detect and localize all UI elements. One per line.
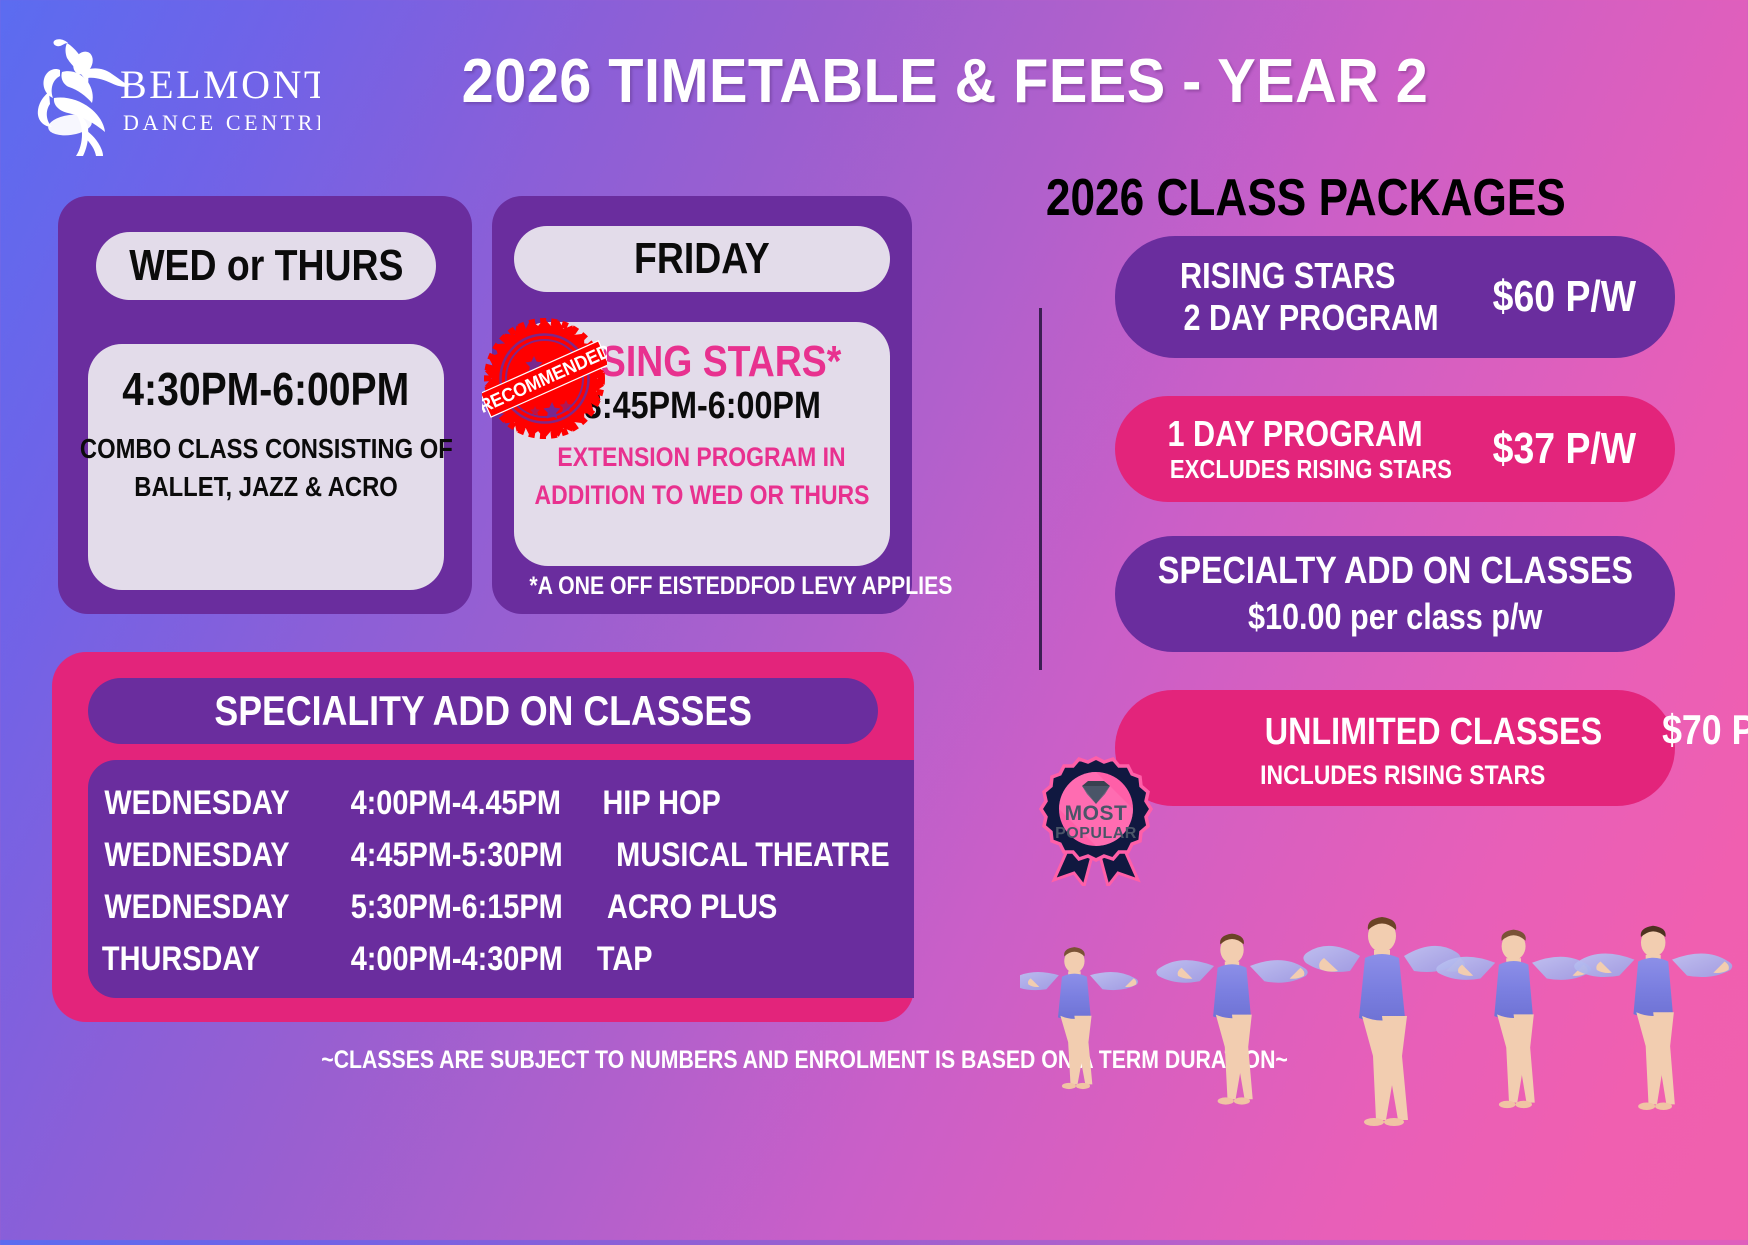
column-divider [1039, 308, 1042, 670]
wed-thurs-day-label: WED or THURS [129, 241, 403, 291]
speciality-row-class: TAP [597, 940, 653, 979]
friday-day-label: FRIDAY [634, 234, 770, 284]
wed-thurs-detail-box: 4:30PM-6:00PM COMBO CLASS CONSISTING OF … [88, 344, 444, 590]
speciality-row-day: THURSDAY [102, 940, 260, 979]
speciality-row-class: MUSICAL THEATRE [616, 836, 889, 875]
speciality-row-day: WEDNESDAY [104, 888, 289, 927]
speciality-row-time: 5:30PM-6:15PM [351, 888, 563, 927]
wed-thurs-desc-line2: BALLET, JAZZ & ACRO [134, 468, 398, 507]
rising-stars-note-line1: EXTENSION PROGRAM IN [558, 438, 846, 476]
package-label-line2: EXCLUDES RISING STARS [1170, 454, 1452, 485]
dancer-figure [1156, 934, 1307, 1105]
rising-stars-note-line2: ADDITION TO WED OR THURS [535, 476, 870, 514]
speciality-heading: SPECIALITY ADD ON CLASSES [214, 687, 752, 735]
dancer-figure [1020, 947, 1138, 1089]
package-label-line1: 1 DAY PROGRAM [1168, 413, 1423, 455]
dancer-figure [1303, 917, 1464, 1126]
brand-logo: BELMONT DANCE CENTRE [20, 26, 320, 156]
speciality-row-class: ACRO PLUS [607, 888, 777, 927]
badge-label-popular: POPULAR [1055, 825, 1137, 842]
speciality-schedule-table: WEDNESDAY 4:00PM-4.45PM HIP HOP WEDNESDA… [88, 778, 914, 986]
speciality-schedule-body: WEDNESDAY 4:00PM-4.45PM HIP HOP WEDNESDA… [88, 760, 914, 998]
speciality-row-class: HIP HOP [603, 784, 721, 823]
dancer-figure [1574, 926, 1732, 1110]
package-price: $60 P/W [1493, 272, 1636, 322]
speciality-heading-pill: SPECIALITY ADD ON CLASSES [88, 678, 878, 744]
package-row-one-day: 1 DAY PROGRAM EXCLUDES RISING STARS $37 … [1115, 396, 1675, 502]
dancer-photo-group [1020, 900, 1748, 1240]
wed-thurs-desc-line1: COMBO CLASS CONSISTING OF [80, 430, 453, 469]
most-popular-badge-icon: MOST POPULAR [1030, 752, 1162, 886]
packages-heading: 2026 CLASS PACKAGES [1000, 168, 1540, 228]
recommended-stamp-icon: RECOMMENDED [482, 316, 607, 441]
package-label-line2: $10.00 per class p/w [1248, 594, 1542, 639]
speciality-row-time: 4:00PM-4.45PM [351, 784, 561, 823]
package-label-line2: 2 DAY PROGRAM [1184, 297, 1439, 339]
wed-thurs-description: COMBO CLASS CONSISTING OF BALLET, JAZZ &… [47, 430, 486, 507]
package-price: $37 P/W [1493, 424, 1636, 474]
wed-thurs-time: 4:30PM-6:00PM [123, 366, 410, 414]
speciality-row-time: 4:45PM-5:30PM [351, 836, 563, 875]
package-label-line1: RISING STARS [1180, 255, 1395, 297]
wed-thurs-card: WED or THURS 4:30PM-6:00PM COMBO CLASS C… [58, 196, 472, 614]
package-row-rising-stars: RISING STARS 2 DAY PROGRAM $60 P/W [1115, 236, 1675, 358]
package-label-line1: SPECIALTY ADD ON CLASSES [1158, 549, 1633, 595]
poster-canvas: BELMONT DANCE CENTRE 2026 TIMETABLE & FE… [0, 0, 1748, 1240]
speciality-row-day: WEDNESDAY [104, 784, 289, 823]
table-row: WEDNESDAY 4:45PM-5:30PM MUSICAL THEATRE [88, 830, 914, 882]
page-title: 2026 TIMETABLE & FEES - YEAR 2 [373, 46, 1517, 117]
package-price: $70 P/W [1662, 706, 1748, 754]
wed-thurs-day-pill: WED or THURS [96, 232, 436, 300]
rising-stars-time: 3:45PM-6:00PM [584, 386, 821, 428]
table-row: WEDNESDAY 4:00PM-4.45PM HIP HOP [88, 778, 914, 830]
ballerina-icon [38, 39, 130, 156]
package-label-line2: INCLUDES RISING STARS [1260, 760, 1545, 791]
eisteddfod-levy-note: *A ONE OFF EISTEDDFOD LEVY APPLIES [492, 572, 912, 601]
table-row: THURSDAY 4:00PM-4:30PM TAP [88, 934, 914, 986]
package-row-unlimited: UNLIMITED CLASSES $70 P/W INCLUDES RISIN… [1115, 690, 1675, 806]
package-label-line1: UNLIMITED CLASSES [1265, 711, 1602, 754]
speciality-row-time: 4:00PM-4:30PM [351, 940, 563, 979]
speciality-add-on-card: SPECIALITY ADD ON CLASSES WEDNESDAY 4:00… [52, 652, 914, 1022]
friday-day-pill: FRIDAY [514, 226, 890, 292]
package-row-specialty-addon: SPECIALTY ADD ON CLASSES $10.00 per clas… [1115, 536, 1675, 652]
brand-name-secondary: DANCE CENTRE [123, 110, 320, 135]
speciality-row-day: WEDNESDAY [104, 836, 289, 875]
table-row: WEDNESDAY 5:30PM-6:15PM ACRO PLUS [88, 882, 914, 934]
brand-name-primary: BELMONT [120, 62, 320, 107]
rising-stars-note: EXTENSION PROGRAM IN ADDITION TO WED OR … [505, 438, 899, 515]
badge-label-most: MOST [1065, 802, 1128, 825]
